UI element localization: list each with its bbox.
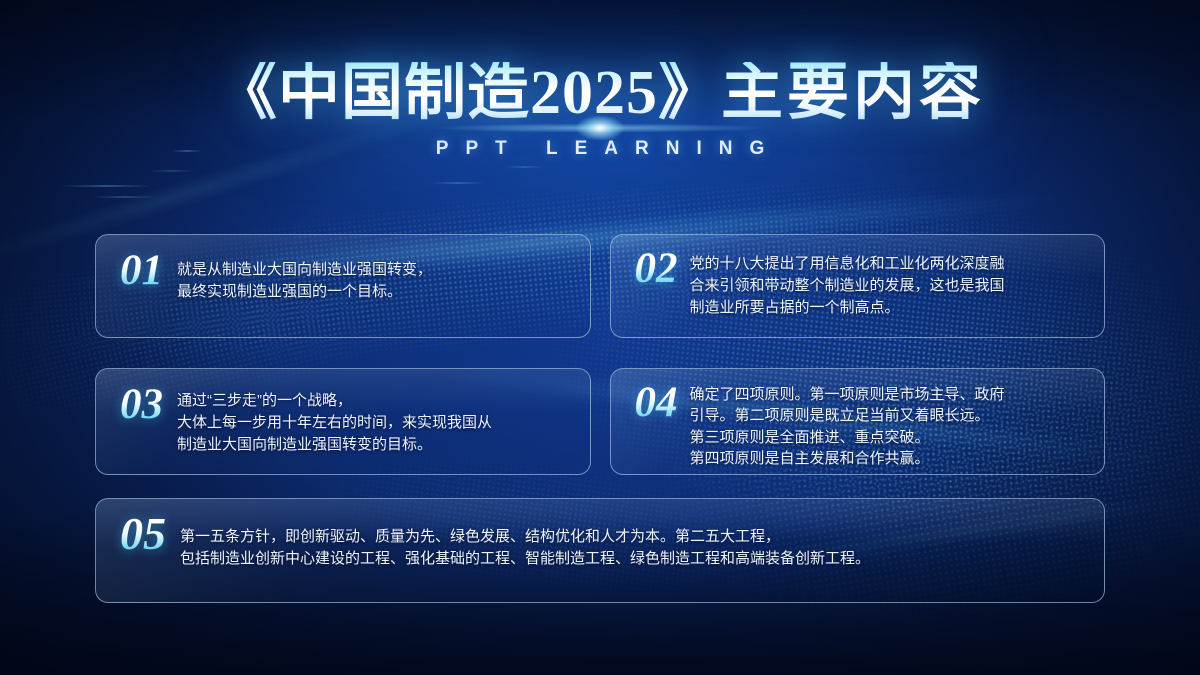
card-text-05: 第一五条方针，即创新驱动、质量为先、绿色发展、结构优化和人才为本。第二五大工程，… [180, 526, 870, 570]
light-streak-decoration [150, 170, 194, 172]
content-card-03[interactable]: 03 通过“三步走”的一个战略， 大体上每一步用十年左右的时间，来实现我国从 制… [95, 368, 591, 475]
page-title-primary: 《中国制造2025》 [215, 59, 721, 127]
card-number-01: 01 [120, 249, 163, 292]
light-streak-decoration [430, 182, 484, 184]
light-streak-decoration [505, 166, 543, 168]
cards-row-1: 01 就是从制造业大国向制造业强国转变， 最终实现制造业强国的一个目标。 02 … [95, 234, 1105, 338]
page-title: 《中国制造2025》主要内容 [0, 62, 1200, 124]
title-block: 《中国制造2025》主要内容 PPT LEARNING [0, 62, 1200, 160]
card-text-04: 确定了四项原则。第一项原则是市场主导、政府 引导。第二项原则是既立足当前又着眼长… [690, 384, 1005, 469]
content-card-01[interactable]: 01 就是从制造业大国向制造业强国转变， 最终实现制造业强国的一个目标。 [95, 234, 591, 338]
card-text-01: 就是从制造业大国向制造业强国转变， 最终实现制造业强国的一个目标。 [177, 259, 432, 303]
content-cards: 01 就是从制造业大国向制造业强国转变， 最终实现制造业强国的一个目标。 02 … [95, 234, 1105, 603]
light-streak-decoration [60, 185, 150, 187]
card-text-03: 通过“三步走”的一个战略， 大体上每一步用十年左右的时间，来实现我国从 制造业大… [177, 390, 492, 456]
cards-row-3: 05 第一五条方针，即创新驱动、质量为先、绿色发展、结构优化和人才为本。第二五大… [95, 498, 1105, 603]
content-card-02[interactable]: 02 党的十八大提出了用信息化和工业化两化深度融 合来引领和带动整个制造业的发展… [610, 234, 1106, 338]
card-text-02: 党的十八大提出了用信息化和工业化两化深度融 合来引领和带动整个制造业的发展，这也… [690, 253, 1005, 319]
card-number-05: 05 [120, 511, 166, 557]
slide-canvas: 《中国制造2025》主要内容 PPT LEARNING 01 就是从制造业大国向… [0, 0, 1200, 675]
page-title-secondary: 主要内容 [721, 59, 985, 127]
card-number-03: 03 [120, 383, 163, 426]
light-streak-decoration [92, 196, 156, 198]
card-number-04: 04 [635, 381, 678, 424]
card-number-02: 02 [635, 247, 678, 290]
content-card-05[interactable]: 05 第一五条方针，即创新驱动、质量为先、绿色发展、结构优化和人才为本。第二五大… [95, 498, 1105, 603]
page-subtitle: PPT LEARNING [0, 138, 1200, 160]
cards-row-2: 03 通过“三步走”的一个战略， 大体上每一步用十年左右的时间，来实现我国从 制… [95, 368, 1105, 475]
content-card-04[interactable]: 04 确定了四项原则。第一项原则是市场主导、政府 引导。第二项原则是既立足当前又… [610, 368, 1106, 475]
